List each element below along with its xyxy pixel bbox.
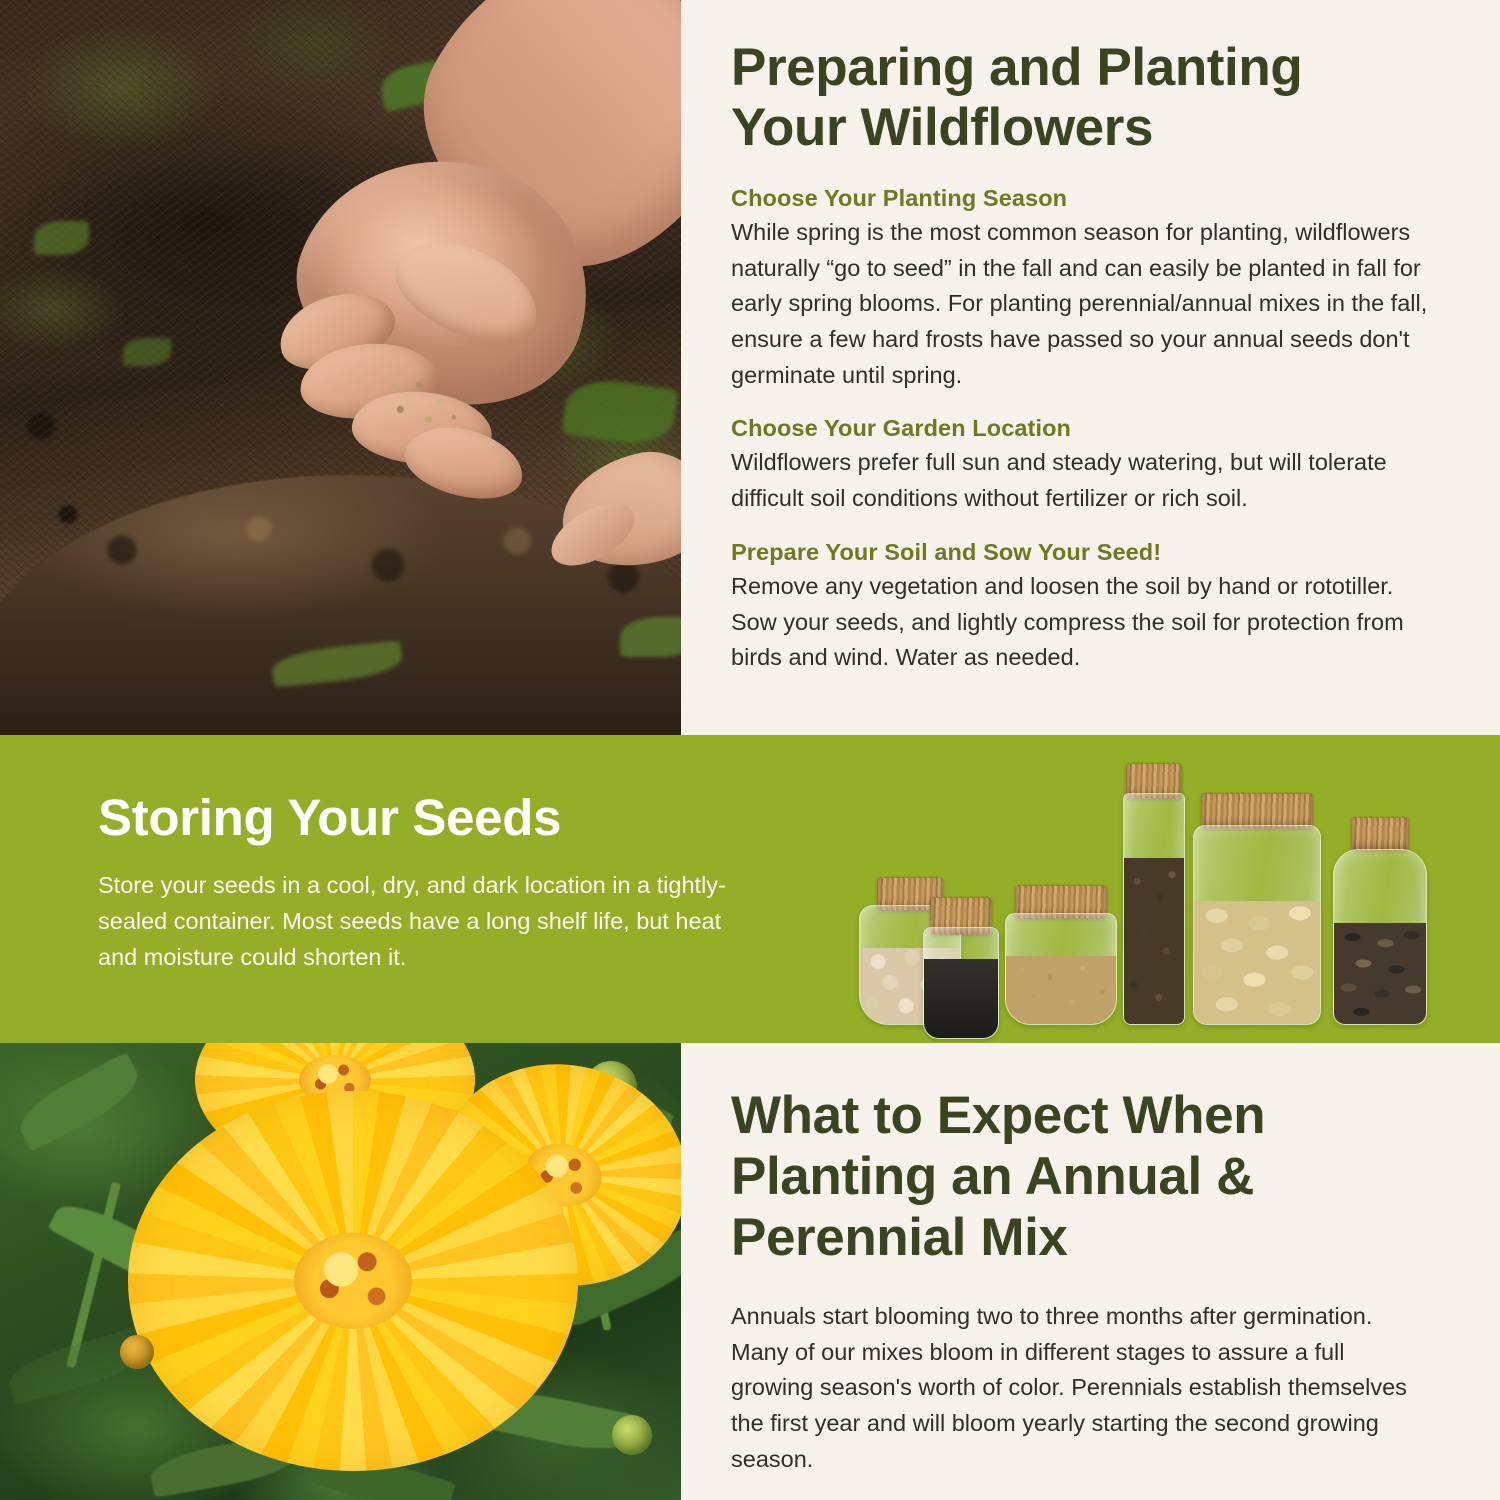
section-preparing-and-planting: Preparing and Planting Your Wildflowers … <box>0 0 1500 735</box>
cork-lid <box>1351 817 1409 851</box>
jar-black-seed <box>923 897 999 1039</box>
glass-body <box>1005 913 1117 1025</box>
flower-bud <box>612 1415 652 1455</box>
photo-yellow-coreopsis-flower <box>0 1043 681 1500</box>
subheading-planting-season: Choose Your Planting Season <box>731 185 1428 212</box>
seed-fill-pumpkin <box>1194 901 1320 1024</box>
jar-sunflower-seeds <box>1333 817 1427 1025</box>
hand-group <box>0 0 681 735</box>
glass-body <box>1333 849 1427 1025</box>
body-garden-location: Wildflowers prefer full sun and steady w… <box>731 445 1428 516</box>
photo-glass-jars-of-seeds <box>845 753 1465 1043</box>
seed-fill-dark <box>1124 858 1184 1024</box>
page-title-preparing: Preparing and Planting Your Wildflowers <box>731 38 1428 159</box>
section-title-storing-seeds: Storing Your Seeds <box>98 790 758 846</box>
body-storing-seeds: Store your seeds in a cool, dry, and dar… <box>98 868 758 975</box>
flower-center <box>294 1233 412 1329</box>
jar-pumpkin-seeds <box>1193 793 1321 1025</box>
glass-body <box>1123 793 1185 1025</box>
flower-bloom-main <box>128 1091 578 1471</box>
top-text-column: Preparing and Planting Your Wildflowers … <box>681 0 1500 735</box>
subheading-garden-location: Choose Your Garden Location <box>731 415 1428 442</box>
section-what-to-expect: What to Expect When Planting an Annual &… <box>0 1043 1500 1500</box>
cork-lid <box>1201 793 1313 829</box>
bottom-text-column: What to Expect When Planting an Annual &… <box>681 1043 1500 1500</box>
seed-fill-sunflower <box>1334 923 1426 1024</box>
section-storing-your-seeds: Storing Your Seeds Store your seeds in a… <box>0 735 1500 1043</box>
seed-fill-black <box>924 959 998 1038</box>
second-hand <box>551 441 681 580</box>
body-prepare-soil: Remove any vegetation and loosen the soi… <box>731 569 1428 676</box>
seed-fill-millet <box>1006 956 1116 1024</box>
body-what-to-expect: Annuals start blooming two to three mont… <box>731 1299 1428 1478</box>
body-planting-season: While spring is the most common season f… <box>731 215 1428 394</box>
infographic-page: Preparing and Planting Your Wildflowers … <box>0 0 1500 1500</box>
photo-hand-sowing-seeds-in-soil <box>0 0 681 735</box>
jar-millet-seed <box>1005 885 1117 1025</box>
glass-body <box>923 927 999 1039</box>
section-title-what-to-expect: What to Expect When Planting an Annual &… <box>731 1086 1428 1269</box>
green-text-column: Storing Your Seeds Store your seeds in a… <box>98 790 758 975</box>
subheading-prepare-soil: Prepare Your Soil and Sow Your Seed! <box>731 539 1428 566</box>
jar-tall-tube-dark-seed <box>1123 763 1185 1025</box>
flower-bud <box>120 1335 154 1369</box>
glass-body <box>1193 825 1321 1025</box>
